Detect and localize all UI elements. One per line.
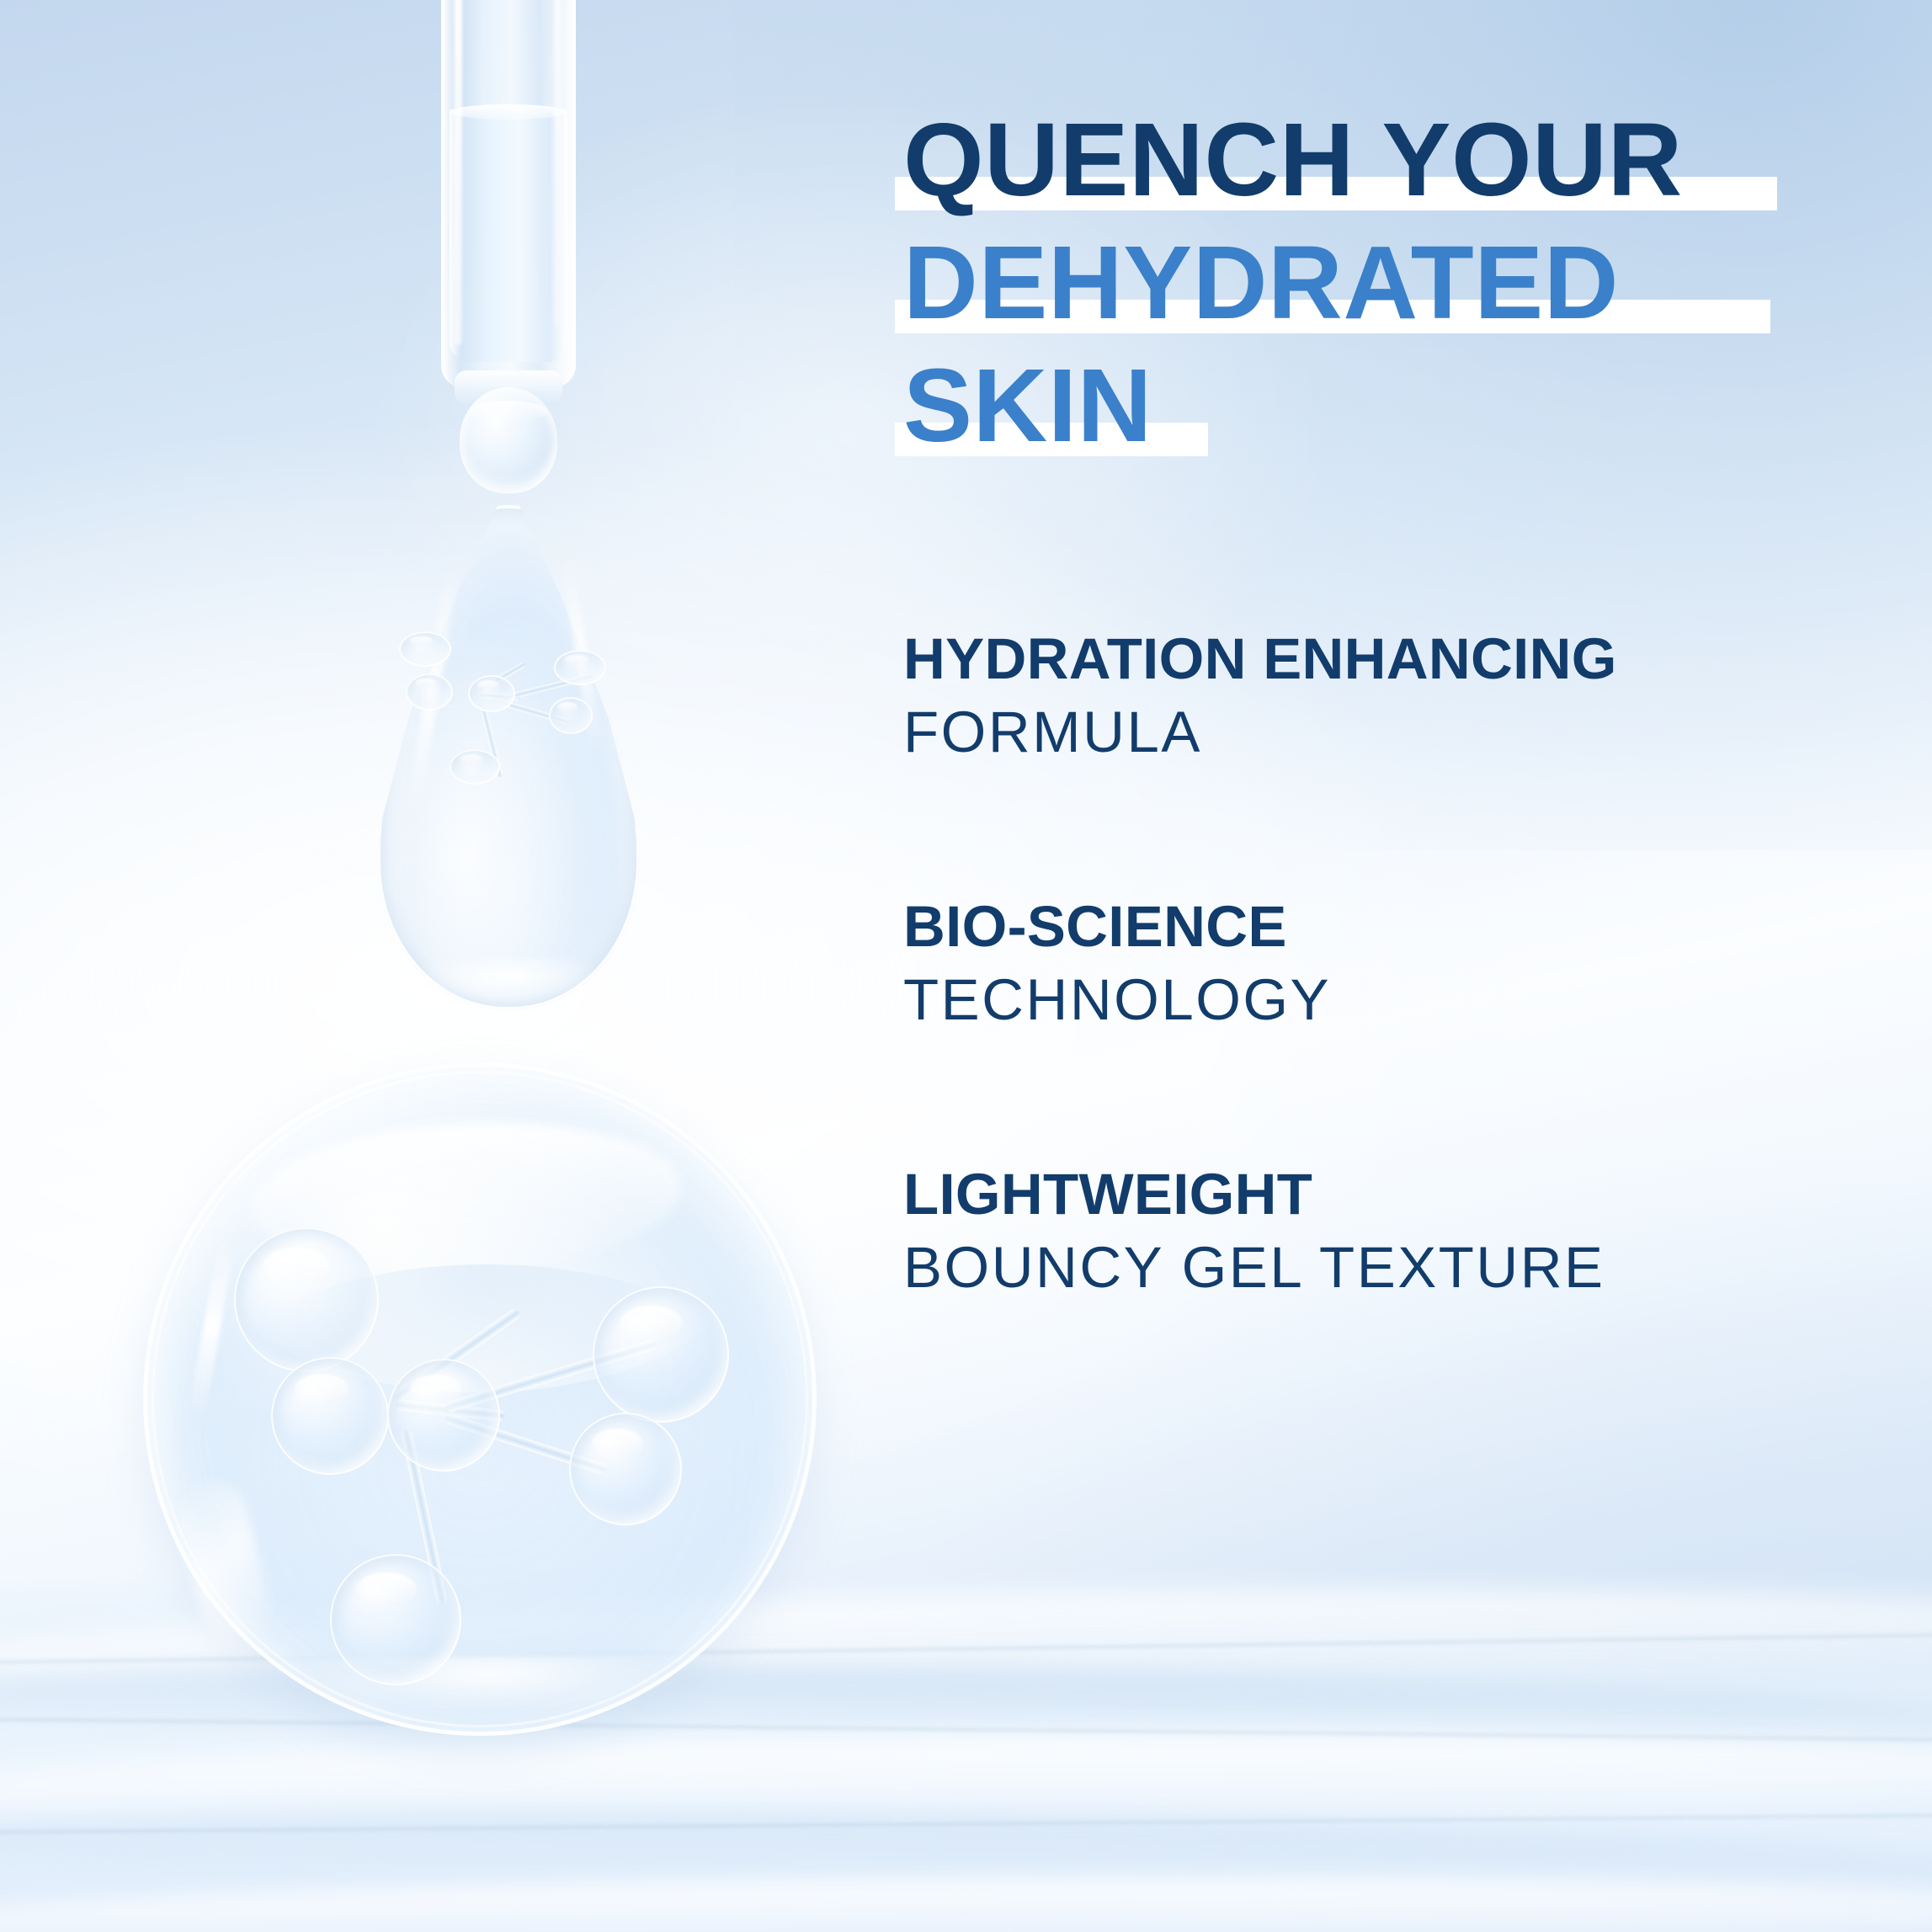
headline-text-3: SKIN xyxy=(903,345,1152,468)
molecule-atom-center xyxy=(468,675,515,712)
pipette-highlight-right xyxy=(555,0,561,328)
feature-item-hydration: HYDRATION ENHANCING FORMULA xyxy=(903,623,1897,769)
droplet-molecule xyxy=(377,505,640,1010)
headline-line-3: SKIN xyxy=(895,345,1888,468)
dropper-pipette xyxy=(441,0,576,412)
feature-title: LIGHTWEIGHT xyxy=(903,1158,1897,1231)
bubble-molecule xyxy=(143,1062,817,1736)
headline-line-1: QUENCH YOUR xyxy=(895,99,1888,222)
pipette-liquid-meniscus xyxy=(450,104,567,120)
serum-droplet xyxy=(377,505,640,1010)
feature-subtitle: TECHNOLOGY xyxy=(903,963,1897,1037)
headline: QUENCH YOUR DEHYDRATED SKIN xyxy=(895,99,1888,468)
feature-subtitle: BOUNCY GEL TEXTURE xyxy=(903,1231,1897,1305)
molecule-atom xyxy=(271,1357,389,1475)
pipette-bulb-ring xyxy=(470,401,547,423)
molecule-atom xyxy=(330,1554,461,1685)
pipette-liquid xyxy=(450,109,567,362)
feature-title: BIO-SCIENCE xyxy=(903,891,1897,963)
feature-item-bioscience: BIO-SCIENCE TECHNOLOGY xyxy=(903,891,1897,1037)
molecule-atom xyxy=(450,749,500,785)
pipette-highlight-left xyxy=(455,0,462,345)
feature-title: HYDRATION ENHANCING xyxy=(903,623,1897,695)
molecule-atom xyxy=(406,673,453,711)
headline-line-2: DEHYDRATED xyxy=(895,222,1888,345)
molecule-atom-center xyxy=(387,1359,500,1472)
molecule-atom xyxy=(569,1413,682,1525)
feature-list: HYDRATION ENHANCING FORMULA BIO-SCIENCE … xyxy=(903,623,1897,1426)
molecule-atom xyxy=(593,1286,729,1423)
molecule-atom xyxy=(234,1227,379,1372)
feature-subtitle: FORMULA xyxy=(903,695,1897,769)
text-column: QUENCH YOUR DEHYDRATED SKIN HYDRATION EN… xyxy=(895,0,1888,1932)
molecule-atom xyxy=(399,631,451,667)
headline-text-1: QUENCH YOUR xyxy=(903,99,1683,222)
feature-item-lightweight: LIGHTWEIGHT BOUNCY GEL TEXTURE xyxy=(903,1158,1897,1305)
molecule-atom xyxy=(549,697,593,734)
headline-text-2: DEHYDRATED xyxy=(903,222,1619,345)
promo-banner: QUENCH YOUR DEHYDRATED SKIN HYDRATION EN… xyxy=(0,0,1932,1932)
molecule-atom xyxy=(554,650,606,685)
gel-bubble xyxy=(143,1062,817,1736)
